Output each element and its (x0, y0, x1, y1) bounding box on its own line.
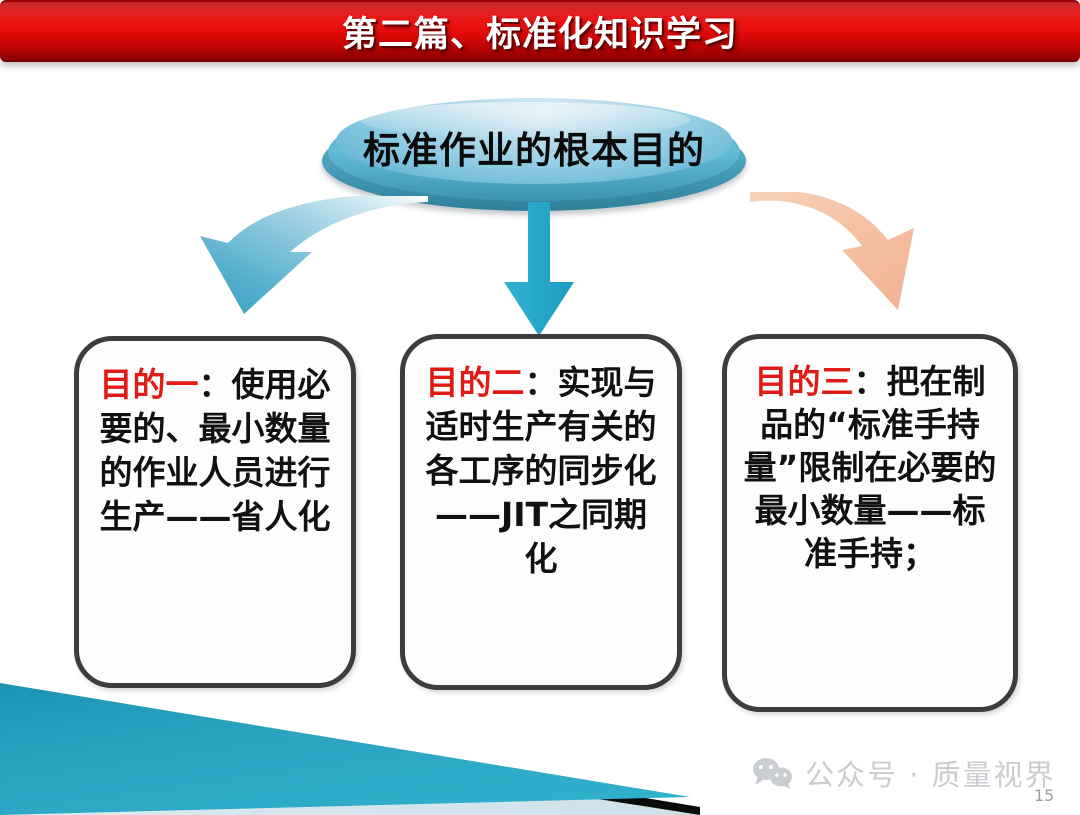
purpose-box-1-separator: ： (199, 365, 232, 404)
purpose-box-1[interactable]: 目的一：使用必要的、最小数量的作业人员进行生产——省人化 (74, 336, 356, 688)
root-node-label: 标准作业的根本目的 (318, 95, 750, 199)
corner-decoration (0, 665, 700, 815)
page-title: 第二篇、标准化知识学习 (0, 0, 1080, 62)
slide-canvas: 第二篇、标准化知识学习 标准作业的根本目的 (0, 0, 1080, 815)
purpose-box-2-text: 目的二：实现与适时生产有关的各工序的同步化——JIT之同期化 (421, 361, 661, 580)
purpose-box-2-separator: ： (525, 363, 558, 402)
page-number: 15 (1034, 786, 1054, 805)
purpose-box-2-label: 目的二 (426, 363, 525, 402)
arrow-left-icon (182, 196, 432, 316)
purpose-box-2[interactable]: 目的二：实现与适时生产有关的各工序的同步化——JIT之同期化 (400, 334, 682, 690)
slide-header-banner: 第二篇、标准化知识学习 (0, 0, 1080, 62)
purpose-box-3-label: 目的三 (755, 362, 854, 401)
arrow-center-icon (498, 202, 580, 338)
purpose-box-3[interactable]: 目的三：把在制品的“标准手持量”限制在必要的最小数量——标准手持； (722, 334, 1018, 712)
purpose-box-1-text: 目的一：使用必要的、最小数量的作业人员进行生产——省人化 (95, 363, 335, 539)
watermark: 公众号 · 质量视界 (752, 752, 1056, 794)
arrow-right-icon (748, 192, 918, 314)
purpose-box-3-separator: ： (854, 362, 887, 401)
wechat-icon (752, 757, 794, 789)
watermark-text: 公众号 · 质量视界 (805, 752, 1056, 794)
purpose-box-3-text: 目的三：把在制品的“标准手持量”限制在必要的最小数量——标准手持； (743, 361, 997, 575)
purpose-box-1-label: 目的一 (100, 365, 199, 404)
